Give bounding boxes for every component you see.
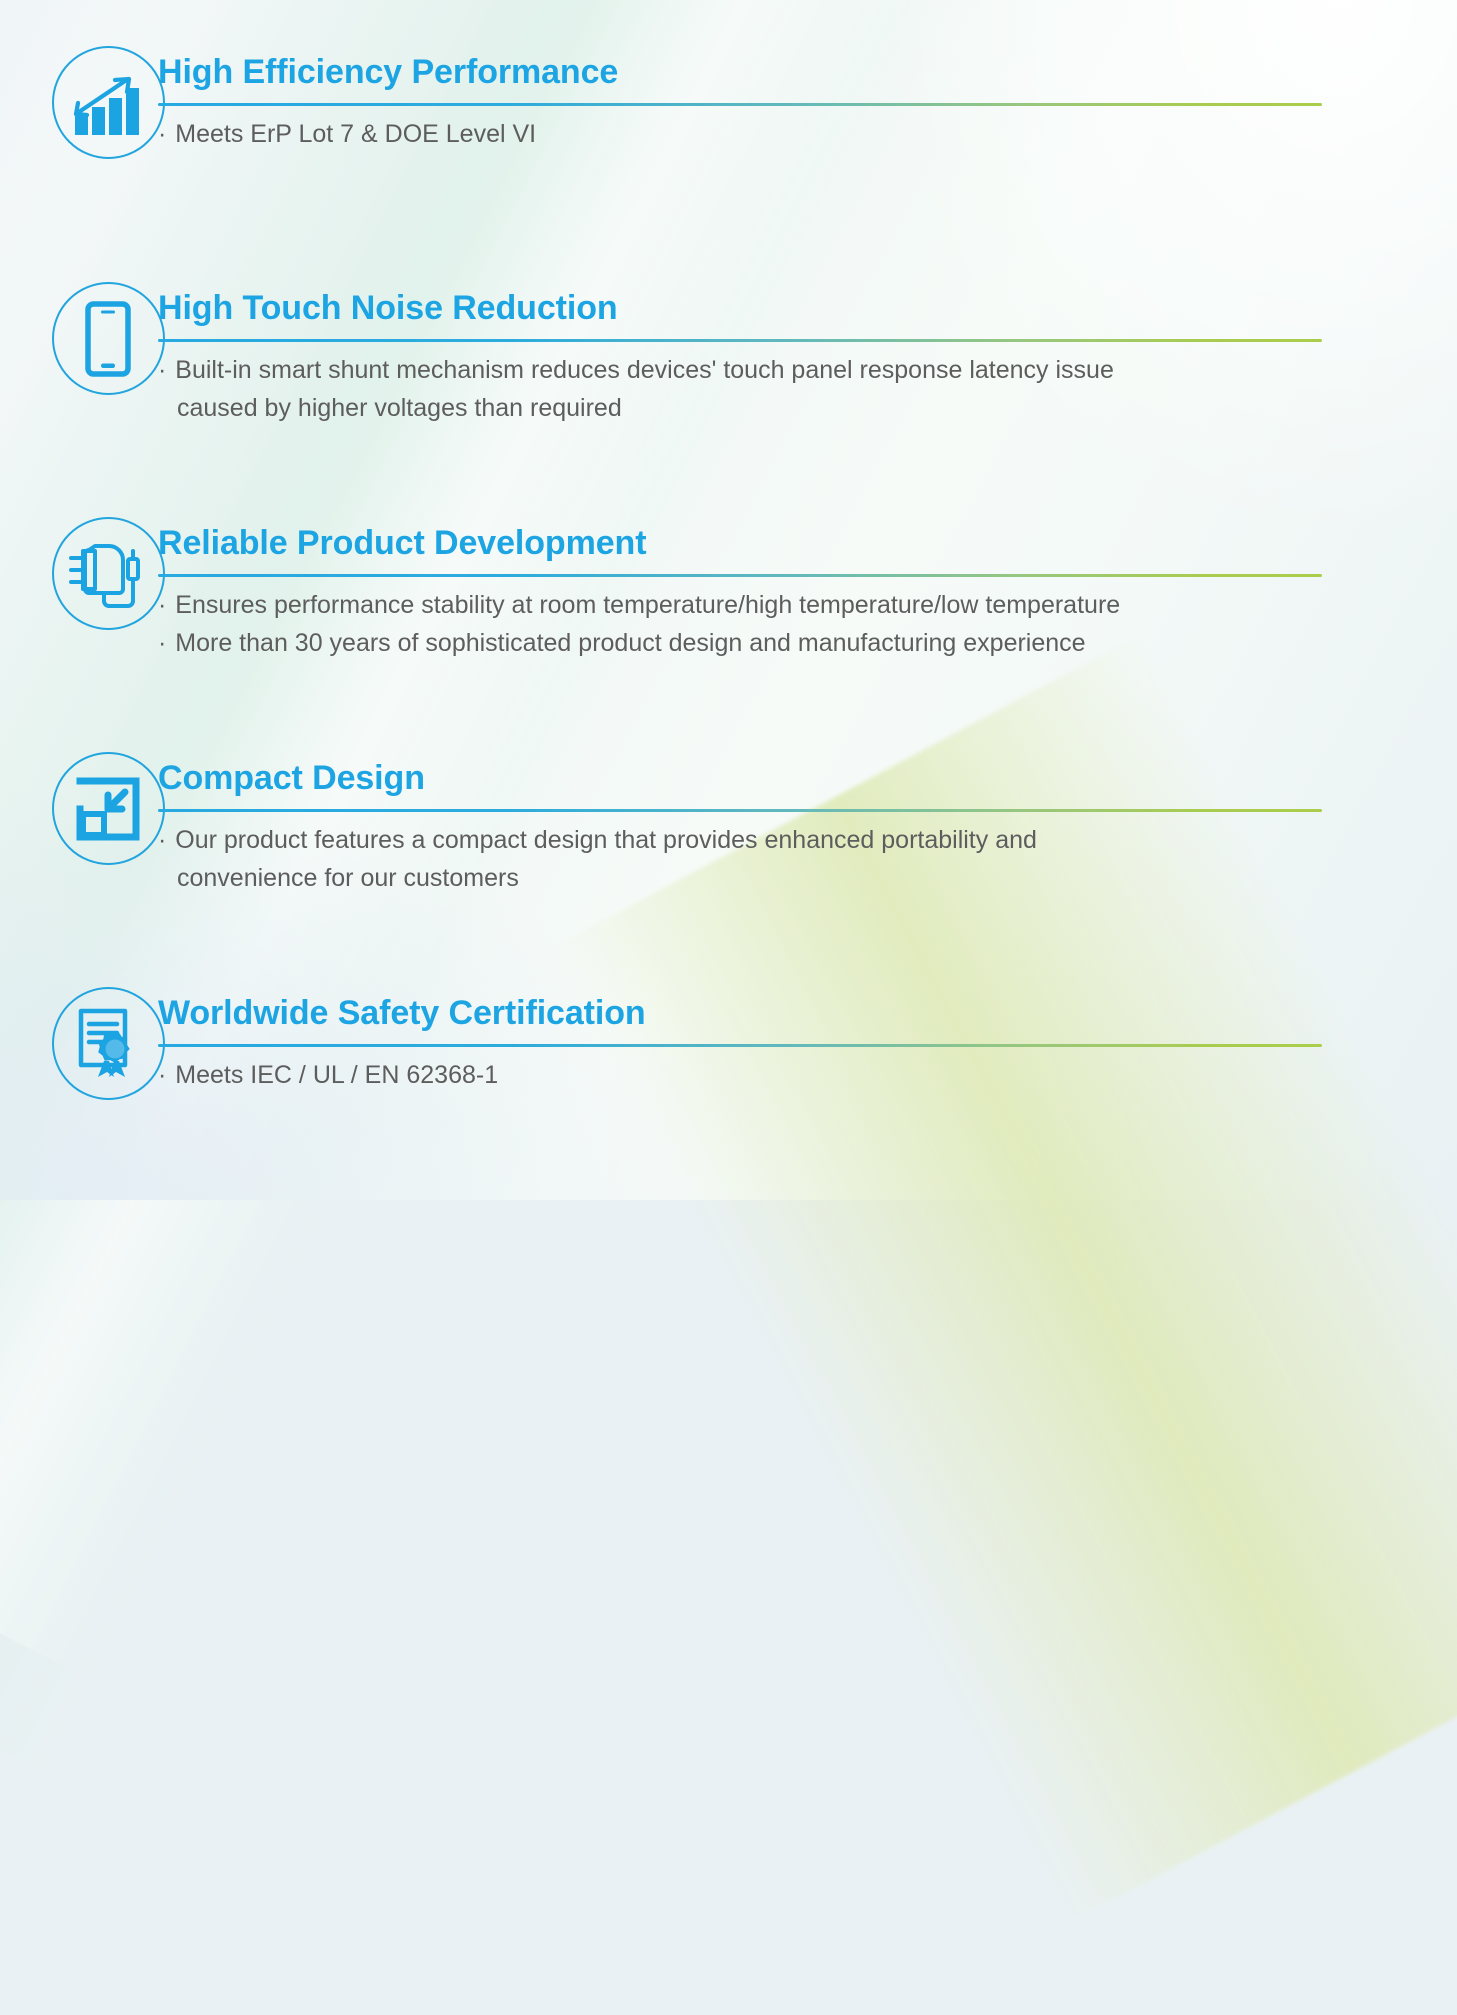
bullet-marker: · [158,1061,168,1089]
bullet-item: · Built-in smart shunt mechanism reduces… [158,351,1334,389]
bullet-marker: · [158,591,168,619]
feature-icon-container [0,987,168,1100]
bullet-text: Ensures performance stability at room te… [175,591,1120,619]
bullet-text: Meets IEC / UL / EN 62368-1 [175,1061,498,1089]
feature-item-worldwide-safety-certification: Worldwide Safety Certification · Meets I… [0,987,1457,1100]
feature-divider [158,339,1322,342]
bullet-text: Meets ErP Lot 7 & DOE Level VI [175,120,536,148]
feature-item-reliable-product-development: Reliable Product Development · Ensures p… [0,517,1457,662]
bullet-text: Built-in smart shunt mechanism reduces d… [175,356,1114,384]
feature-item-high-efficiency-performance: High Efficiency Performance · Meets ErP … [0,46,1457,159]
power-adapter-icon [52,517,165,630]
bar-chart-growth-icon [52,46,165,159]
feature-divider [158,103,1322,106]
feature-text-block: Reliable Product Development · Ensures p… [158,517,1334,662]
feature-divider [158,574,1322,577]
smartphone-icon [52,282,165,395]
bullet-marker: · [158,826,168,854]
feature-bullets: · Our product features a compact design … [158,821,1334,897]
bullet-item: · Our product features a compact design … [158,821,1334,859]
feature-title: High Efficiency Performance [158,52,1334,92]
feature-icon-container [0,46,168,159]
bullet-item-continuation: convenience for our customers [158,859,1334,897]
feature-bullets: · Meets ErP Lot 7 & DOE Level VI [158,115,1334,153]
feature-title: Worldwide Safety Certification [158,993,1334,1033]
bullet-marker: · [158,356,168,384]
feature-item-high-touch-noise-reduction: High Touch Noise Reduction · Built-in sm… [0,282,1457,427]
feature-text-block: High Efficiency Performance · Meets ErP … [158,46,1334,153]
feature-item-compact-design: Compact Design · Our product features a … [0,752,1457,897]
bullet-marker: · [158,120,168,148]
feature-list: High Efficiency Performance · Meets ErP … [0,0,1457,1200]
bullet-item: · Meets IEC / UL / EN 62368-1 [158,1056,1334,1094]
bullet-item: · More than 30 years of sophisticated pr… [158,624,1334,662]
feature-bullets: · Built-in smart shunt mechanism reduces… [158,351,1334,427]
certificate-seal-icon [52,987,165,1100]
feature-divider [158,1044,1322,1047]
feature-icon-container [0,282,168,395]
bullet-item: · Meets ErP Lot 7 & DOE Level VI [158,115,1334,153]
feature-icon-container [0,517,168,630]
bullet-text: Our product features a compact design th… [175,826,1037,854]
feature-title: High Touch Noise Reduction [158,288,1334,328]
feature-title: Reliable Product Development [158,523,1334,563]
bullet-item-continuation: caused by higher voltages than required [158,389,1334,427]
bullet-item: · Ensures performance stability at room … [158,586,1334,624]
feature-icon-container [0,752,168,865]
feature-text-block: Worldwide Safety Certification · Meets I… [158,987,1334,1094]
bullet-marker: · [158,629,168,657]
feature-bullets: · Meets IEC / UL / EN 62368-1 [158,1056,1334,1094]
feature-text-block: Compact Design · Our product features a … [158,752,1334,897]
feature-text-block: High Touch Noise Reduction · Built-in sm… [158,282,1334,427]
feature-bullets: · Ensures performance stability at room … [158,586,1334,662]
compact-resize-icon [52,752,165,865]
feature-title: Compact Design [158,758,1334,798]
feature-divider [158,809,1322,812]
bullet-text: More than 30 years of sophisticated prod… [175,629,1085,657]
